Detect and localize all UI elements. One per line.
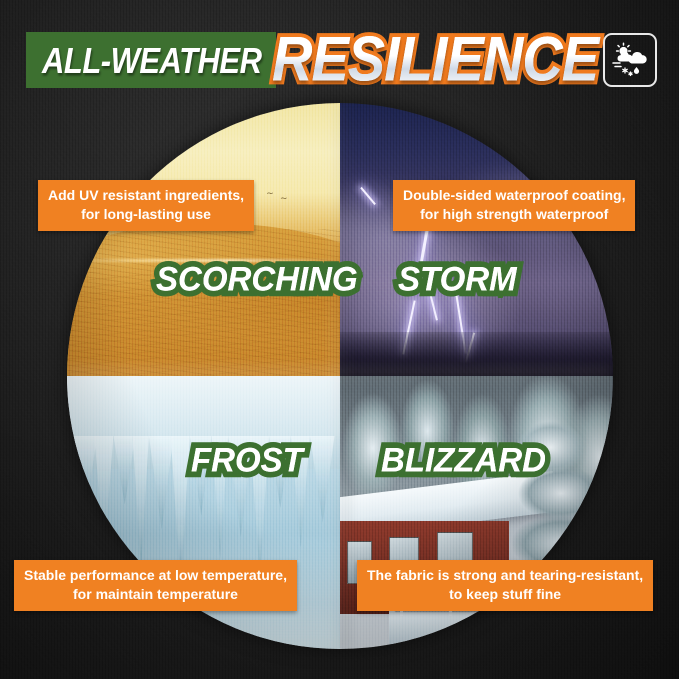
quadrant-scorching: ∼ ∼ [67,103,340,376]
weather-badge [603,33,657,87]
all-weather-resilience-poster: ∼ ∼ [0,0,679,679]
label-storm-outline: STORM [398,261,517,296]
caption-scorching: Add UV resistant ingredients, for long-l… [38,180,254,231]
icicle [72,436,97,519]
title-primary-band: ALL-WEATHER [26,32,276,88]
label-frost-outline: FROST [191,442,303,477]
desert-scene: ∼ ∼ [67,103,340,376]
label-scorching-outline: SCORCHING [156,261,358,296]
storm-horizon [340,332,613,376]
icicle [133,436,149,569]
icicle [94,436,113,555]
bird-icon: ∼ [280,193,288,204]
icicle [149,436,174,530]
caption-blizzard: The fabric is strong and tearing-resista… [357,560,653,611]
sun-cloud-rain-snow-icon [611,42,649,78]
caption-frost: Stable performance at low temperature, f… [14,560,297,611]
icicle [113,436,135,504]
storm-scene [340,103,613,376]
bird-icon: ∼ [266,188,274,199]
quadrant-storm [340,103,613,376]
title-secondary-outline: RESILIENCE [272,18,598,101]
title-primary: ALL-WEATHER [42,42,262,79]
caption-storm: Double-sided waterproof coating, for hig… [393,180,635,231]
poster-header: ALL-WEATHER RESILIENCE RESILIENCE [0,26,679,100]
label-blizzard-outline: BLIZZARD [381,442,546,477]
icicle [310,436,335,522]
